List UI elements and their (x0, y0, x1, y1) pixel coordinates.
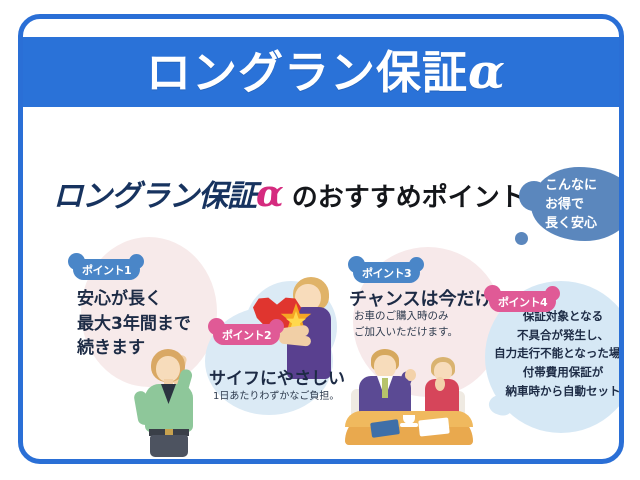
point-4-line-4: 付帯費用保証が (489, 363, 624, 382)
point-4-line-3: 自力走行不能となった場合 (489, 344, 624, 363)
point-4-line-2: 不具合が発生し、 (489, 326, 624, 345)
document-on-table (418, 417, 450, 436)
illustration-woman-green (131, 349, 205, 459)
point-4-badge: ポイント4 (489, 291, 556, 312)
point-3-subtext-line-1: お車のご購入時のみ (354, 309, 458, 325)
poster-root: ロングラン保証α ロングラン保証αのおすすめポイント こんなに お得で 長く安心… (0, 0, 640, 480)
point-3-heading: チャンスは今だけ (349, 285, 492, 311)
point-3-subtext-line-2: ご加入いただけます。 (354, 325, 458, 341)
thought-bubble: こんなに お得で 長く安心 (531, 167, 624, 241)
subtitle: ロングラン保証αのおすすめポイント (53, 171, 526, 215)
thought-bubble-line-3: 長く安心 (545, 215, 624, 234)
point-3-subtext: お車のご購入時のみ ご加入いただけます。 (354, 309, 458, 341)
point-1-heading-line-3: 続きます (77, 336, 191, 361)
illustration-meeting-scene (345, 349, 473, 445)
page-title-alpha: α (468, 44, 506, 100)
point-3-badge-label: ポイント3 (362, 265, 411, 281)
point-2-subtext: 1日あたりわずかなご負担。 (213, 387, 339, 402)
point-2-heading: サイフにやさしい (209, 364, 345, 389)
customer-woman-hands (435, 377, 445, 391)
man-face (374, 355, 396, 378)
thought-bubble-text: こんなに お得で 長く安心 (531, 167, 624, 234)
title-band: ロングラン保証α (18, 37, 624, 107)
point-4-text: 保証対象となる 不具合が発生し、 自力走行不能となった場合 付帯費用保証が 納車… (489, 307, 624, 400)
point-1-badge-label: ポイント1 (82, 262, 131, 278)
page-title: ロングラン保証α (146, 48, 506, 96)
point-3-badge: ポイント3 (353, 262, 420, 283)
page-title-text: ロングラン保証 (146, 46, 468, 99)
point-1-heading: 安心が長く 最大3年間まで 続きます (77, 287, 191, 361)
woman-heart-arm-lower (279, 333, 312, 346)
point-4-badge-label: ポイント4 (498, 294, 547, 310)
point-1-badge: ポイント1 (73, 259, 140, 280)
woman-green-skirt (150, 435, 188, 457)
point-2-badge: ポイント2 (213, 324, 280, 345)
point-1-heading-line-1: 安心が長く (77, 287, 191, 312)
subtitle-rest: のおすすめポイント (292, 177, 526, 214)
point-1-heading-line-2: 最大3年間まで (77, 312, 191, 337)
thought-bubble-line-2: お得で (545, 196, 624, 215)
subtitle-brand: ロングラン保証 (53, 171, 256, 215)
point-4-line-5: 納車時から自動セット (489, 382, 624, 401)
point-2-badge-label: ポイント2 (222, 327, 271, 343)
poster-frame: ロングラン保証α ロングラン保証αのおすすめポイント こんなに お得で 長く安心… (18, 14, 624, 464)
coffee-saucer (400, 423, 418, 427)
thought-bubble-line-1: こんなに (545, 177, 624, 196)
man-tie (382, 378, 388, 398)
subtitle-alpha: α (256, 173, 284, 215)
